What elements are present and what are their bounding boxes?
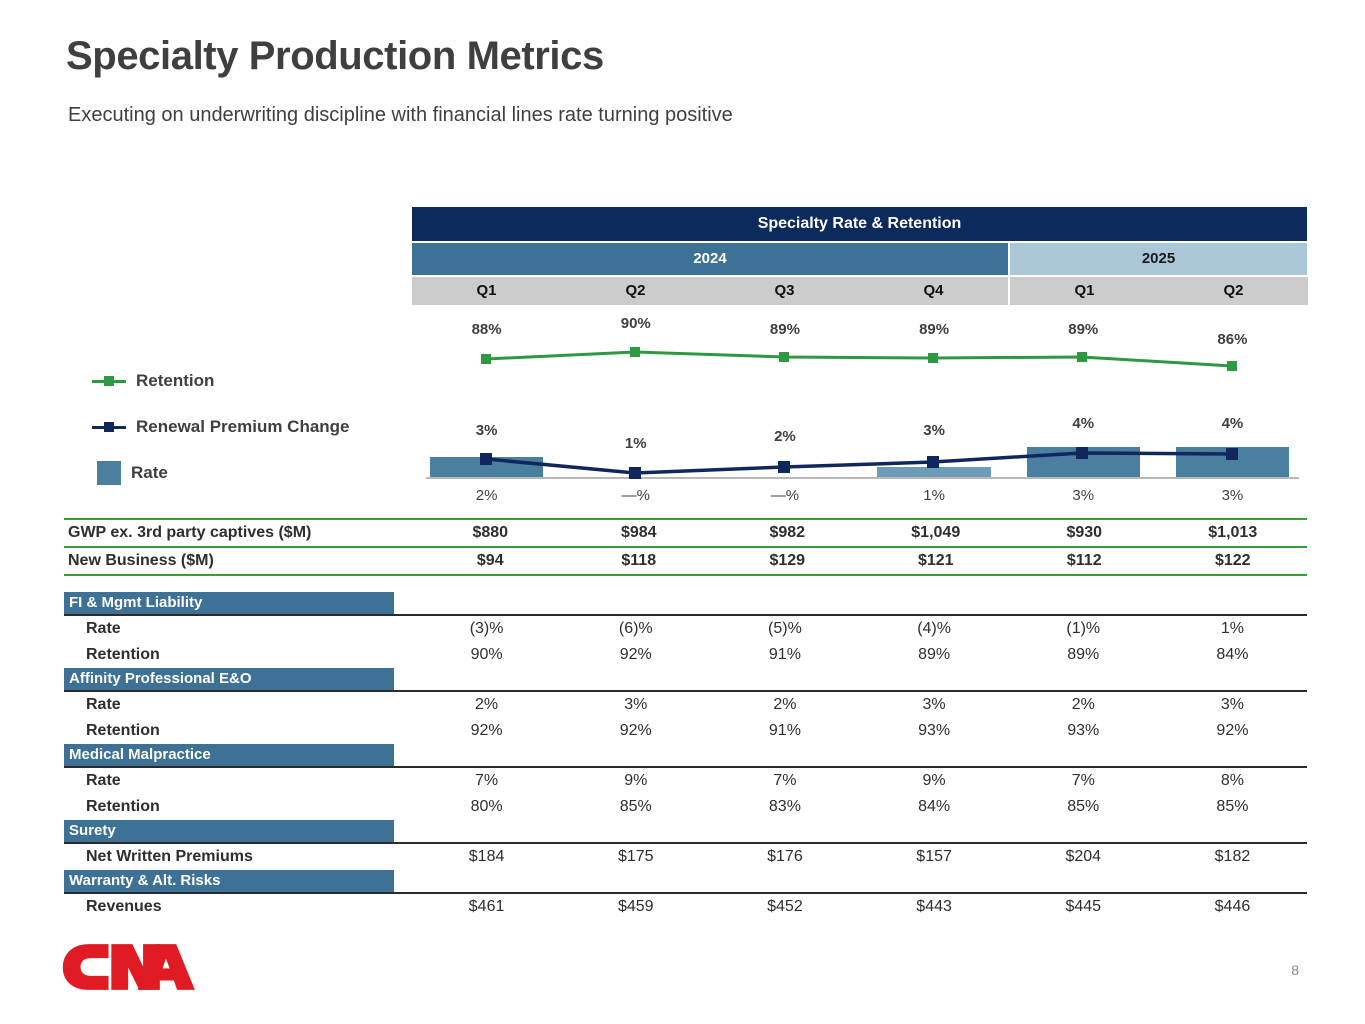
year-header-row: 2024 2025 [412, 243, 1307, 275]
cell-fi-rate-q4-2024: (4)% [860, 620, 1009, 638]
cna-logo [60, 940, 200, 994]
cell-fi-ret-q1-2025: 89% [1009, 646, 1158, 664]
cell-fi-rate-q2-2025: 1% [1158, 620, 1307, 638]
table-row: Rate 2% 3% 2% 3% 2% 3% [64, 692, 1307, 718]
row-values-fi-retention: 90% 92% 91% 89% 89% 84% [412, 646, 1307, 664]
table-row: Retention 92% 92% 91% 93% 93% 92% [64, 718, 1307, 744]
cell-fi-ret-q3-2024: 91% [710, 646, 859, 664]
cell-nb-q4-2024: $121 [862, 552, 1011, 570]
quarter-header-q1-2025: Q1 [1010, 277, 1159, 305]
renewal-premium-change-line-icon [92, 420, 126, 434]
cell-med-ret-q1-2025: 85% [1009, 798, 1158, 816]
cell-fi-ret-q2-2024: 92% [561, 646, 710, 664]
cell-aff-ret-q2-2025: 92% [1158, 722, 1307, 740]
table-row-gwp: GWP ex. 3rd party captives ($M) $880 $98… [64, 520, 1307, 546]
legend-item-renewal-premium-change: Renewal Premium Change [92, 404, 392, 450]
row-label-affinity-rate: Rate [64, 696, 412, 714]
gwp-summary-block: GWP ex. 3rd party captives ($M) $880 $98… [64, 518, 1307, 576]
chart-legend: Retention Renewal Premium Change Rate [92, 358, 392, 496]
cell-war-rev-q1-2024: $461 [412, 898, 561, 916]
section-heading-warranty-alt-risks: Warranty & Alt. Risks [64, 870, 394, 892]
row-label-affinity-retention: Retention [64, 722, 412, 740]
cell-gwp-q1-2025: $930 [1010, 524, 1159, 542]
cell-sur-nwp-q1-2025: $204 [1009, 848, 1158, 866]
table-row: Retention 90% 92% 91% 89% 89% 84% [64, 642, 1307, 668]
legend-item-rate: Rate [92, 450, 392, 496]
row-values-fi-rate: (3)% (6)% (5)% (4)% (1)% 1% [412, 620, 1307, 638]
row-label-surety-nwp: Net Written Premiums [64, 848, 412, 866]
row-values-affinity-rate: 2% 3% 2% 3% 2% 3% [412, 696, 1307, 714]
legend-item-retention: Retention [92, 358, 392, 404]
cell-aff-rate-q2-2025: 3% [1158, 696, 1307, 714]
cell-med-ret-q3-2024: 83% [710, 798, 859, 816]
quarter-header-q3-2024: Q3 [710, 277, 859, 305]
page-title: Specialty Production Metrics [66, 34, 604, 79]
cell-sur-nwp-q2-2025: $182 [1158, 848, 1307, 866]
cell-war-rev-q2-2024: $459 [561, 898, 710, 916]
rate-retention-chart: 88% 90% 89% 89% 89% 86% 3% 1% 2% 3% 4% 4… [412, 307, 1307, 512]
cell-gwp-q1-2024: $880 [416, 524, 565, 542]
chart-lines [412, 307, 1307, 512]
section-heading-fi-mgmt-liability: FI & Mgmt Liability [64, 592, 394, 614]
legend-label-renewal-premium-change: Renewal Premium Change [136, 417, 350, 437]
cell-war-rev-q4-2024: $443 [860, 898, 1009, 916]
row-values-warranty-revenues: $461 $459 $452 $443 $445 $446 [412, 898, 1307, 916]
quarter-header-q2-2025: Q2 [1159, 277, 1308, 305]
row-label-new-business: New Business ($M) [64, 552, 416, 570]
table-row-new-business: New Business ($M) $94 $118 $129 $121 $11… [64, 548, 1307, 574]
section-affinity-professional-eo: Affinity Professional E&O Rate 2% 3% 2% … [64, 668, 1307, 744]
cell-fi-ret-q4-2024: 89% [860, 646, 1009, 664]
cell-med-ret-q1-2024: 80% [412, 798, 561, 816]
cell-fi-rate-q3-2024: (5)% [710, 620, 859, 638]
cell-aff-rate-q4-2024: 3% [860, 696, 1009, 714]
section-heading-medical-malpractice: Medical Malpractice [64, 744, 394, 766]
table-row: Net Written Premiums $184 $175 $176 $157… [64, 844, 1307, 870]
cell-nb-q1-2025: $112 [1010, 552, 1159, 570]
cell-fi-ret-q1-2024: 90% [412, 646, 561, 664]
cell-fi-rate-q1-2024: (3)% [412, 620, 561, 638]
cell-sur-nwp-q1-2024: $184 [412, 848, 561, 866]
quarter-header-q2-2024: Q2 [561, 277, 710, 305]
cell-aff-ret-q4-2024: 93% [860, 722, 1009, 740]
cell-med-rate-q1-2024: 7% [412, 772, 561, 790]
page-subtitle: Executing on underwriting discipline wit… [68, 104, 733, 127]
row-values-medmal-retention: 80% 85% 83% 84% 85% 85% [412, 798, 1307, 816]
cell-sur-nwp-q3-2024: $176 [710, 848, 859, 866]
table-title-banner: Specialty Rate & Retention [412, 207, 1307, 241]
cell-gwp-q4-2024: $1,049 [862, 524, 1011, 542]
table-row: Rate (3)% (6)% (5)% (4)% (1)% 1% [64, 616, 1307, 642]
divider-green-bottom [64, 574, 1307, 576]
table-row: Rate 7% 9% 7% 9% 7% 8% [64, 768, 1307, 794]
row-values-medmal-rate: 7% 9% 7% 9% 7% 8% [412, 772, 1307, 790]
cell-fi-ret-q2-2025: 84% [1158, 646, 1307, 664]
cell-war-rev-q2-2025: $446 [1158, 898, 1307, 916]
cell-med-rate-q3-2024: 7% [710, 772, 859, 790]
cell-med-rate-q4-2024: 9% [860, 772, 1009, 790]
cell-aff-ret-q3-2024: 91% [710, 722, 859, 740]
row-values-affinity-retention: 92% 92% 91% 93% 93% 92% [412, 722, 1307, 740]
table-row: Retention 80% 85% 83% 84% 85% 85% [64, 794, 1307, 820]
cell-med-rate-q2-2024: 9% [561, 772, 710, 790]
cell-gwp-q2-2025: $1,013 [1159, 524, 1308, 542]
legend-label-rate: Rate [131, 463, 168, 483]
quarter-header-q4-2024: Q4 [859, 277, 1008, 305]
retention-line-icon [92, 374, 126, 388]
cell-fi-rate-q1-2025: (1)% [1009, 620, 1158, 638]
cell-nb-q2-2025: $122 [1159, 552, 1308, 570]
row-label-warranty-revenues: Revenues [64, 898, 412, 916]
section-surety: Surety Net Written Premiums $184 $175 $1… [64, 820, 1307, 870]
cell-aff-rate-q1-2024: 2% [412, 696, 561, 714]
row-label-medmal-rate: Rate [64, 772, 412, 790]
row-label-fi-retention: Retention [64, 646, 412, 664]
cell-gwp-q3-2024: $982 [713, 524, 862, 542]
cell-aff-rate-q2-2024: 3% [561, 696, 710, 714]
page-number: 8 [1291, 962, 1299, 978]
table-row: Revenues $461 $459 $452 $443 $445 $446 [64, 894, 1307, 920]
cell-war-rev-q1-2025: $445 [1009, 898, 1158, 916]
section-heading-affinity-professional-eo: Affinity Professional E&O [64, 668, 394, 690]
cell-sur-nwp-q2-2024: $175 [561, 848, 710, 866]
section-medical-malpractice: Medical Malpractice Rate 7% 9% 7% 9% 7% … [64, 744, 1307, 820]
cell-med-ret-q4-2024: 84% [860, 798, 1009, 816]
cell-sur-nwp-q4-2024: $157 [860, 848, 1009, 866]
section-warranty-alt-risks: Warranty & Alt. Risks Revenues $461 $459… [64, 870, 1307, 920]
cell-aff-ret-q2-2024: 92% [561, 722, 710, 740]
cell-gwp-q2-2024: $984 [565, 524, 714, 542]
rate-swatch-icon [97, 461, 121, 485]
section-heading-surety: Surety [64, 820, 394, 842]
quarter-header-q1-2024: Q1 [412, 277, 561, 305]
business-line-sections: FI & Mgmt Liability Rate (3)% (6)% (5)% … [64, 592, 1307, 920]
quarter-header-row: Q1 Q2 Q3 Q4 Q1 Q2 [412, 277, 1307, 305]
cell-med-ret-q2-2024: 85% [561, 798, 710, 816]
cell-aff-ret-q1-2025: 93% [1009, 722, 1158, 740]
cell-med-rate-q2-2025: 8% [1158, 772, 1307, 790]
row-values-surety-nwp: $184 $175 $176 $157 $204 $182 [412, 848, 1307, 866]
cell-aff-rate-q3-2024: 2% [710, 696, 859, 714]
year-header-2025: 2025 [1010, 243, 1307, 275]
cell-nb-q3-2024: $129 [713, 552, 862, 570]
year-header-2024: 2024 [412, 243, 1008, 275]
cell-nb-q2-2024: $118 [565, 552, 714, 570]
cell-aff-ret-q1-2024: 92% [412, 722, 561, 740]
cell-aff-rate-q1-2025: 2% [1009, 696, 1158, 714]
retention-line [486, 352, 1232, 366]
rpc-line [486, 453, 1232, 473]
row-values-gwp: $880 $984 $982 $1,049 $930 $1,013 [416, 524, 1307, 542]
row-label-fi-rate: Rate [64, 620, 412, 638]
section-fi-mgmt-liability: FI & Mgmt Liability Rate (3)% (6)% (5)% … [64, 592, 1307, 668]
cell-war-rev-q3-2024: $452 [710, 898, 859, 916]
legend-label-retention: Retention [136, 371, 214, 391]
row-values-new-business: $94 $118 $129 $121 $112 $122 [416, 552, 1307, 570]
rate-retention-header: Specialty Rate & Retention 2024 2025 Q1 … [412, 207, 1307, 305]
cell-med-ret-q2-2025: 85% [1158, 798, 1307, 816]
cell-fi-rate-q2-2024: (6)% [561, 620, 710, 638]
cell-nb-q1-2024: $94 [416, 552, 565, 570]
row-label-medmal-retention: Retention [64, 798, 412, 816]
row-label-gwp: GWP ex. 3rd party captives ($M) [64, 524, 416, 542]
cell-med-rate-q1-2025: 7% [1009, 772, 1158, 790]
